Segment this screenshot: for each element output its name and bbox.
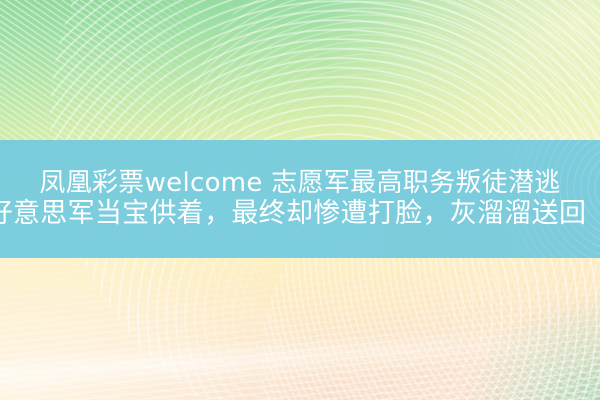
headline-line-1: 凤凰彩票welcome 志愿军最高职务叛徒潜逃	[39, 168, 560, 198]
headline-block: 凤凰彩票welcome 志愿军最高职务叛徒潜逃 好意思军当宝供着，最终却惨遭打脸…	[0, 140, 600, 258]
headline-line-2: 好意思军当宝供着，最终却惨遭打脸，灰溜溜送回	[0, 198, 586, 229]
banner-image: 凤凰彩票welcome 志愿军最高职务叛徒潜逃 好意思军当宝供着，最终却惨遭打脸…	[0, 0, 600, 400]
